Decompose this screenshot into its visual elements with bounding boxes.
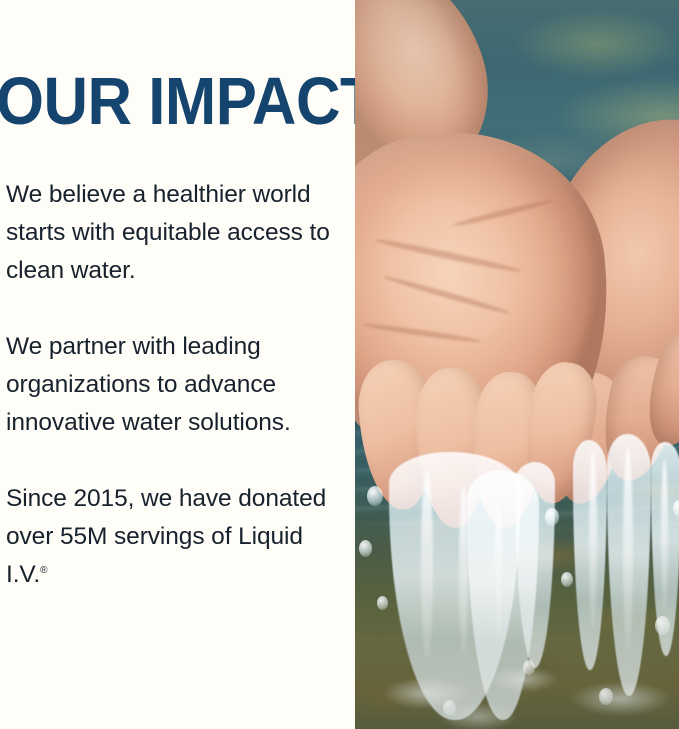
water-highlight: [661, 460, 668, 610]
water-droplet: [367, 486, 383, 506]
hands-water-photo: [355, 0, 679, 729]
paragraph-donations-text: Since 2015, we have donated over 55M ser…: [6, 485, 326, 588]
water-highlight: [459, 486, 468, 654]
water-droplet: [655, 616, 670, 635]
water-highlight: [589, 452, 597, 628]
water-highlight: [421, 470, 433, 660]
paragraph-donations: Since 2015, we have donated over 55M ser…: [6, 480, 336, 594]
paragraph-partnerships: We partner with leading organizations to…: [6, 328, 336, 442]
water-droplet: [377, 596, 388, 610]
water-droplet: [359, 540, 372, 557]
text-panel: OUR IMPACT We believe a healthier world …: [0, 0, 355, 729]
paragraph-mission: We believe a healthier world starts with…: [6, 176, 336, 290]
water-highlight: [495, 500, 502, 640]
water-splash: [355, 640, 679, 729]
water-droplet: [673, 500, 679, 517]
water-droplet: [545, 508, 559, 526]
page-title: OUR IMPACT: [0, 68, 355, 136]
water-droplet: [561, 572, 573, 587]
water-highlight: [623, 448, 633, 648]
our-impact-banner: OUR IMPACT We believe a healthier world …: [0, 0, 679, 729]
registered-trademark-icon: ®: [40, 565, 47, 576]
body-copy: We believe a healthier world starts with…: [6, 176, 336, 594]
